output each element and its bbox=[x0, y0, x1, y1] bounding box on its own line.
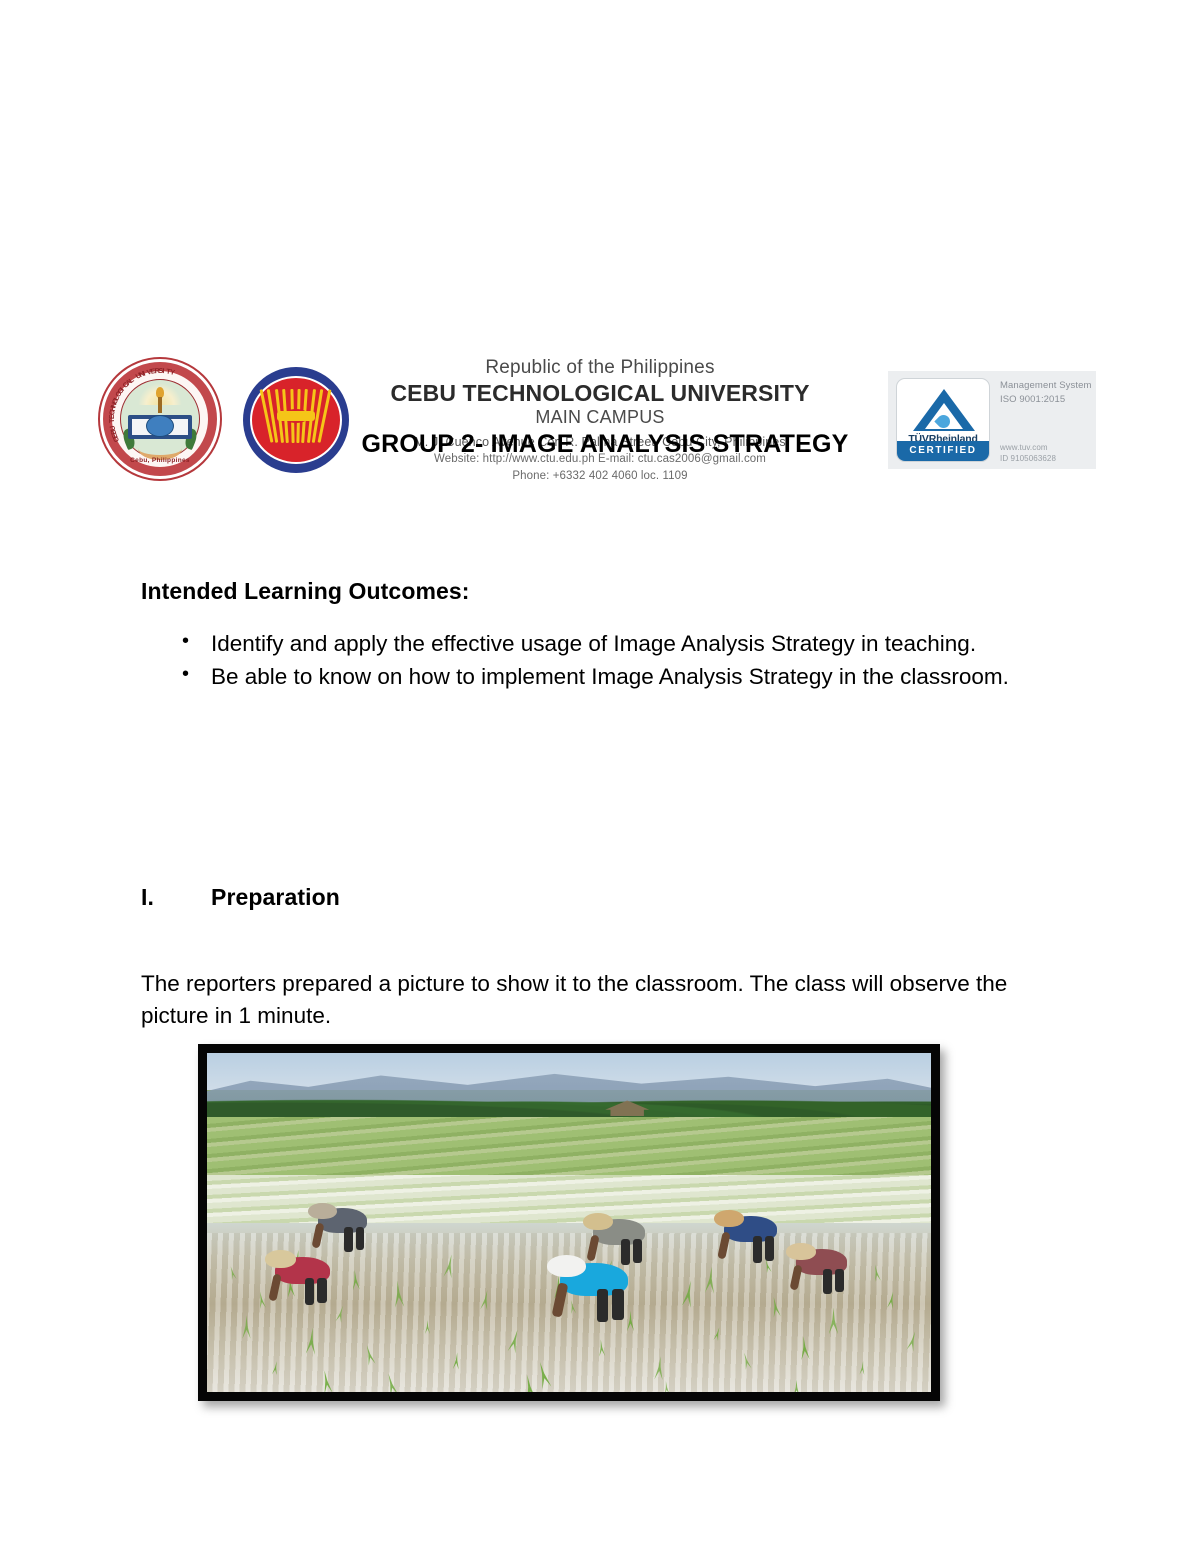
list-item-label: Be able to know on how to implement Imag… bbox=[211, 664, 1009, 689]
farmer-arm bbox=[790, 1264, 803, 1291]
farmer-leg bbox=[344, 1227, 353, 1252]
rice-field-planting-photo bbox=[198, 1044, 940, 1401]
asean-stalk-band bbox=[277, 411, 315, 421]
letterhead-campus-name: MAIN CAMPUS bbox=[360, 407, 840, 429]
farmer-leg bbox=[612, 1289, 624, 1320]
list-item: • Be able to know on how to implement Im… bbox=[141, 661, 1069, 693]
farmer-arm bbox=[717, 1232, 730, 1260]
tuv-side-text: Management System ISO 9001:2015 www.tuv.… bbox=[1000, 380, 1094, 407]
photo-far-paddy bbox=[207, 1117, 931, 1181]
letterhead-university-name: CEBU TECHNOLOGICAL UNIVERSITY bbox=[360, 380, 840, 406]
farmer-red-shirt bbox=[265, 1246, 341, 1313]
conical-straw-hat-icon bbox=[714, 1210, 745, 1227]
letterhead-text-block: Republic of the Philippines CEBU TECHNOL… bbox=[360, 357, 840, 484]
letterhead-phone-line: Phone: +6332 402 4060 loc. 1109 bbox=[360, 468, 840, 485]
preparation-paragraph: The reporters prepared a picture to show… bbox=[141, 968, 1069, 1032]
photo-content bbox=[207, 1053, 931, 1392]
farmer-leg bbox=[305, 1278, 314, 1305]
farmer-leg bbox=[597, 1289, 609, 1323]
tuv-iso-standard-label: ISO 9001:2015 bbox=[1000, 394, 1094, 407]
farmer-leg bbox=[317, 1278, 326, 1303]
list-item-label: Identify and apply the effective usage o… bbox=[211, 631, 976, 656]
farmer-arm bbox=[312, 1223, 325, 1249]
farmer-cyan-shirt bbox=[547, 1250, 641, 1333]
tuv-triangle-icon bbox=[913, 389, 975, 431]
intended-learning-outcomes-heading: Intended Learning Outcomes: bbox=[141, 578, 470, 605]
letterhead-republic-line: Republic of the Philippines bbox=[360, 357, 840, 379]
conical-straw-hat-icon bbox=[308, 1203, 337, 1219]
bullet-icon: • bbox=[182, 660, 189, 688]
farmer-leg bbox=[835, 1269, 844, 1293]
section-heading-preparation: I.Preparation bbox=[141, 884, 340, 911]
farmer-arm bbox=[552, 1283, 569, 1318]
farmer-maroon-shirt bbox=[786, 1239, 857, 1302]
conical-straw-hat-icon bbox=[265, 1250, 297, 1268]
section-number: I. bbox=[141, 884, 211, 911]
conical-straw-hat-icon bbox=[547, 1255, 586, 1277]
farmer-leg bbox=[356, 1227, 365, 1250]
tuv-management-system-label: Management System bbox=[1000, 380, 1094, 393]
ctu-university-seal-icon: CEBU TECHNOLOGICAL UNIVERSITY Cebu, Phil… bbox=[98, 357, 222, 481]
letterhead: CEBU TECHNOLOGICAL UNIVERSITY Cebu, Phil… bbox=[0, 175, 1200, 310]
farmer-arm bbox=[268, 1273, 282, 1301]
farmer-leg bbox=[765, 1236, 774, 1260]
conical-straw-hat-icon bbox=[583, 1213, 613, 1230]
conical-straw-hat-icon bbox=[786, 1243, 815, 1260]
intended-learning-outcomes-list: • Identify and apply the effective usage… bbox=[141, 628, 1069, 694]
page-title: GROUP 2- IMAGE ANALYSIS STRATEGY bbox=[141, 430, 1069, 459]
bullet-icon: • bbox=[182, 627, 189, 655]
farmer-leg bbox=[823, 1269, 832, 1294]
section-title: Preparation bbox=[211, 884, 340, 910]
farmer-blue-shirt bbox=[714, 1206, 787, 1271]
farmer-leg bbox=[753, 1236, 762, 1263]
list-item: • Identify and apply the effective usage… bbox=[141, 628, 1069, 660]
